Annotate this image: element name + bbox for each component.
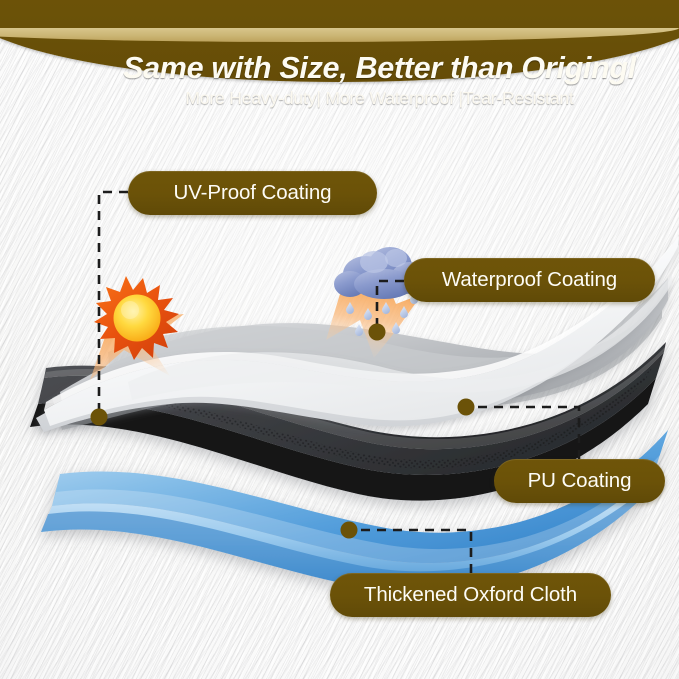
- page-title: Same with Size, Better than Origingl: [123, 52, 636, 84]
- label-thickened-oxford-cloth-text: Thickened Oxford Cloth: [364, 583, 577, 607]
- sun-core: [114, 295, 161, 342]
- sun-icon: [88, 268, 196, 386]
- label-uv-proof-coating[interactable]: UV-Proof Coating: [128, 171, 377, 215]
- page-subtitle: More Heavy-duty| More Waterproof |Tear-R…: [185, 89, 573, 108]
- sun-highlight: [121, 301, 139, 319]
- infographic-canvas: UV-Proof Coating Waterproof Coating PU C…: [0, 0, 679, 679]
- label-uv-proof-coating-text: UV-Proof Coating: [174, 181, 332, 205]
- label-pu-coating[interactable]: PU Coating: [494, 459, 665, 503]
- header-gold-stripe: [0, 28, 679, 42]
- label-pu-coating-text: PU Coating: [528, 469, 632, 493]
- header-text-group: Same with Size, Better than Origingl Mor…: [40, 46, 679, 128]
- label-thickened-oxford-cloth[interactable]: Thickened Oxford Cloth: [330, 573, 611, 617]
- label-waterproof-coating[interactable]: Waterproof Coating: [404, 258, 655, 302]
- label-waterproof-coating-text: Waterproof Coating: [442, 268, 617, 292]
